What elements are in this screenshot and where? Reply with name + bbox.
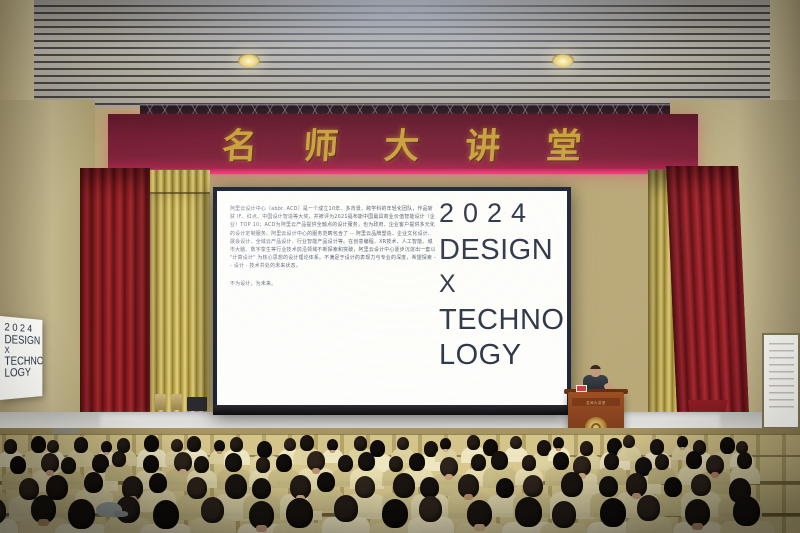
side-wordmark-design: DESIGN xyxy=(4,334,42,347)
slide-text-block: 阿里云设计中心（abbr. ACD）是一个成立10年、多背景、跨学科的年轻化团队… xyxy=(230,205,436,288)
stage-chair xyxy=(171,394,182,410)
wall-poster-text-lines xyxy=(769,343,794,413)
wordmark-logy: LOGY xyxy=(439,342,567,369)
red-curtain-left xyxy=(80,168,150,430)
red-curtain-right xyxy=(666,166,750,434)
wordmark-separator: X xyxy=(439,273,567,296)
ceiling-shading xyxy=(0,0,800,108)
seated-audience xyxy=(0,428,800,533)
gold-curtain-left xyxy=(148,170,210,418)
auditorium-photo: 名 师 大 讲 堂 阿里云设计中心（abbr. ACD）是一个成立10年、多背景… xyxy=(0,0,800,533)
side-wordmark-separator: X xyxy=(4,346,42,356)
banner-char-5: 堂 xyxy=(545,118,586,169)
banner-char-2: 师 xyxy=(302,118,343,169)
presenter-head xyxy=(590,365,601,377)
slide-wordmark: 2024 DESIGN X TECHNO LOGY xyxy=(439,201,567,378)
side-wordmark-techno: TECHNO xyxy=(4,356,42,368)
banner-char-4: 讲 xyxy=(464,118,505,169)
podium-nameplate: 名师大讲堂 xyxy=(572,398,620,406)
projection-screen-surface: 阿里云设计中心（abbr. ACD）是一个成立10年、多背景、跨学科的年轻化团队… xyxy=(217,191,567,409)
banner-calligraphy: 名 师 大 讲 堂 xyxy=(106,118,699,168)
banner-char-3: 大 xyxy=(383,118,424,169)
slide-paragraph-2: 不为设计，为未来。 xyxy=(230,280,436,288)
stage-chair xyxy=(155,394,166,410)
wordmark-techno: TECHNO xyxy=(439,307,567,334)
gold-curtain-valance xyxy=(148,170,210,194)
stage-equipment-case xyxy=(187,397,207,411)
recessed-downlight-left xyxy=(238,54,260,67)
side-screen-wordmark: 2024 DESIGN X TECHNO LOGY xyxy=(4,322,42,380)
wall-poster xyxy=(762,333,800,429)
slide-paragraph-1: 阿里云设计中心（abbr. ACD）是一个成立10年、多背景、跨学科的年轻化团队… xyxy=(230,205,436,271)
wordmark-year: 2024 xyxy=(439,201,567,226)
wordmark-design: DESIGN xyxy=(439,237,567,264)
projection-screen: 阿里云设计中心（abbr. ACD）是一个成立10年、多背景、跨学科的年轻化团队… xyxy=(213,187,571,413)
banner-char-1: 名 xyxy=(221,118,262,169)
microphone-flag xyxy=(576,385,587,392)
ceiling-left-wall-return xyxy=(0,0,34,108)
ceiling-right-wall-return xyxy=(770,0,800,108)
side-wordmark-logy: LOGY xyxy=(4,367,42,380)
audience-vignette xyxy=(0,428,800,533)
side-projection-screen: 2024 DESIGN X TECHNO LOGY xyxy=(0,316,42,400)
recessed-downlight-right xyxy=(552,54,574,67)
projection-screen-bottom-bezel xyxy=(213,405,571,415)
event-banner: 名 师 大 讲 堂 xyxy=(108,114,698,174)
